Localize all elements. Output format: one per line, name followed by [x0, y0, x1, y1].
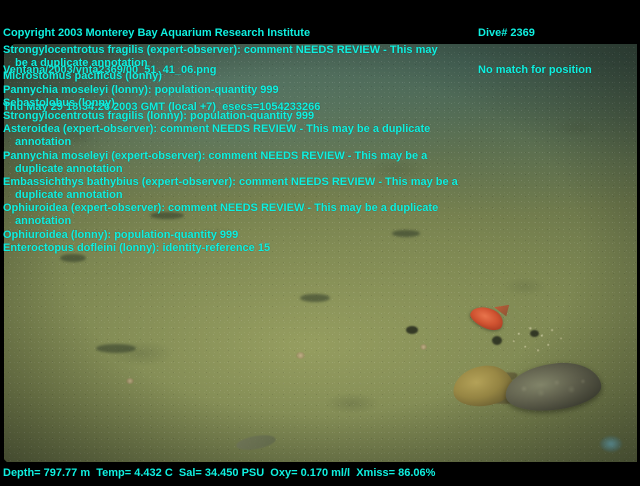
annotation-line: duplicate annotation — [3, 189, 523, 202]
ctd-status-bar: Depth= 797.77 m Temp= 4.432 C Sal= 34.45… — [0, 462, 640, 486]
annotation-line: Enteroctopus dofleini (lonny): identity-… — [3, 242, 523, 255]
header-overlay: Copyright 2003 Monterey Bay Aquarium Res… — [0, 0, 640, 44]
dive-number-line: Dive# 2369 — [478, 27, 592, 40]
annotation-line: annotation — [3, 215, 523, 228]
annotation-line: Pannychia moseleyi (expert-observer): co… — [3, 150, 523, 163]
annotation-line: Ophiuroidea (expert-observer): comment N… — [3, 202, 523, 215]
annotation-line: Ophiuroidea (lonny): population-quantity… — [3, 229, 523, 242]
ctd-readout: Depth= 797.77 m Temp= 4.432 C Sal= 34.45… — [3, 467, 435, 479]
annotation-line: be a duplicate annotation — [3, 57, 523, 70]
annotation-list: Strongylocentrotus fragilis (expert-obse… — [3, 44, 523, 255]
annotation-line: annotation — [3, 136, 523, 149]
copyright-line: Copyright 2003 Monterey Bay Aquarium Res… — [3, 27, 320, 40]
annotation-line: Microstomus pacificus (lonny) — [3, 70, 523, 83]
video-frame-viewer: Copyright 2003 Monterey Bay Aquarium Res… — [0, 0, 640, 486]
annotation-line: Asteroidea (expert-observer): comment NE… — [3, 123, 523, 136]
annotation-line: Strongylocentrotus fragilis (lonny): pop… — [3, 110, 523, 123]
annotation-line: Embassichthys bathybius (expert-observer… — [3, 176, 523, 189]
annotation-line: duplicate annotation — [3, 163, 523, 176]
annotation-line: Strongylocentrotus fragilis (expert-obse… — [3, 44, 523, 57]
annotation-line: Pannychia moseleyi (lonny): population-q… — [3, 84, 523, 97]
annotation-line: Sebastolobus (lonny) — [3, 97, 523, 110]
